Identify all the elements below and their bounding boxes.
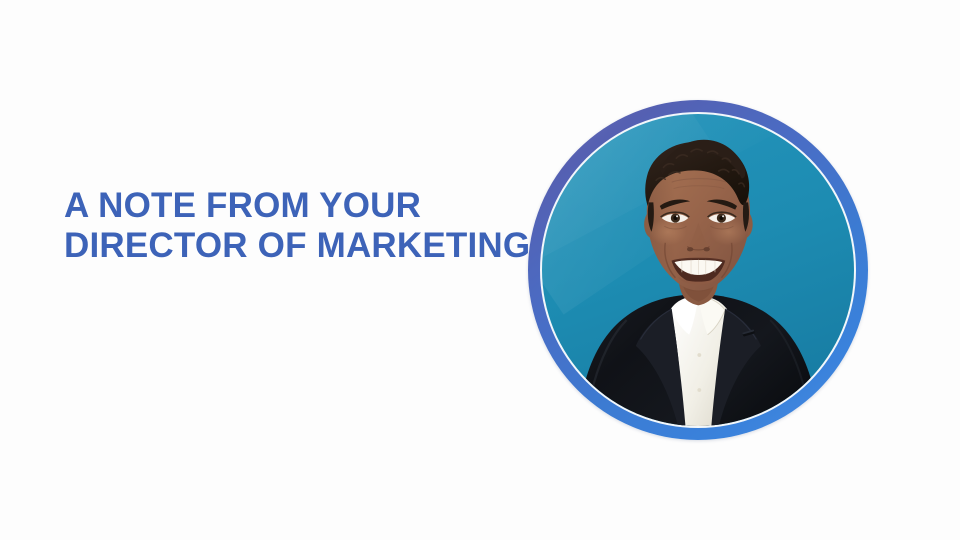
portrait-subject — [542, 114, 855, 427]
portrait-photo — [542, 114, 855, 427]
portrait-medallion — [528, 100, 868, 440]
page-title-line-1: A NOTE FROM YOUR — [64, 186, 534, 226]
portrait-hairline-ring — [540, 112, 856, 428]
page-title-line-2: DIRECTOR OF MARKETING — [64, 226, 534, 266]
page-title: A NOTE FROM YOUR DIRECTOR OF MARKETING — [64, 186, 534, 266]
slide-canvas: A NOTE FROM YOUR DIRECTOR OF MARKETING — [0, 0, 960, 540]
